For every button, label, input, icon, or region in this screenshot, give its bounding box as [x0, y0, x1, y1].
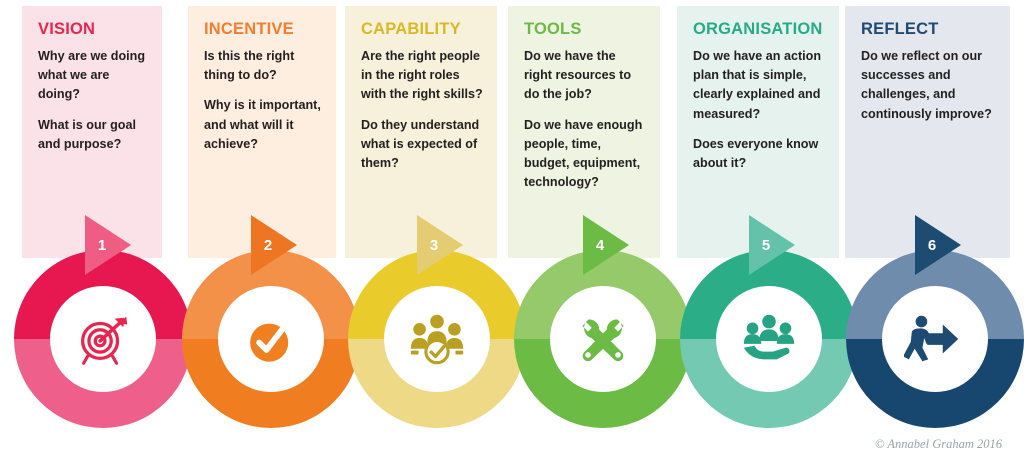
people-check-icon — [400, 302, 474, 376]
infographic-canvas: VISIONWhy are we doing what we are doing… — [0, 0, 1024, 466]
step-marker-5: 5 — [749, 215, 797, 275]
check-circle-icon — [234, 302, 308, 376]
panel-question: Are the right people in the right roles … — [361, 47, 483, 104]
step-ring-1 — [14, 250, 192, 428]
copyright-credit: © Annabel Graham 2016 — [875, 437, 1002, 452]
panel-title: ORGANISATION — [693, 20, 825, 38]
target-arrow-icon — [66, 302, 140, 376]
panel-question: Do we have enough people, time, budget, … — [524, 116, 646, 193]
step-marker-1: 1 — [85, 215, 133, 275]
panel-title: VISION — [38, 20, 148, 38]
step-ring-5 — [680, 250, 858, 428]
step-number: 4 — [583, 215, 617, 275]
panel-title: TOOLS — [524, 20, 646, 38]
panel-title: CAPABILITY — [361, 20, 483, 38]
step-number: 1 — [85, 215, 119, 275]
panel-question: Do we have an action plan that is simple… — [693, 47, 825, 124]
panel-question: Does everyone know about it? — [693, 135, 825, 173]
panel-title: REFLECT — [861, 20, 996, 38]
step-marker-6: 6 — [915, 215, 963, 275]
panel-question: Do we reflect on our successes and chall… — [861, 47, 996, 124]
step-ring-2 — [182, 250, 360, 428]
people-in-hand-icon — [732, 302, 806, 376]
step-marker-2: 2 — [251, 215, 299, 275]
person-pushing-arrow-icon — [898, 302, 972, 376]
step-ring-4 — [514, 250, 692, 428]
panel-question: Why are we doing what we are doing? — [38, 47, 148, 104]
panel-question: Do we have the right resources to do the… — [524, 47, 646, 104]
step-number: 6 — [915, 215, 949, 275]
step-number: 3 — [417, 215, 451, 275]
panel-question: Is this the right thing to do? — [204, 47, 322, 85]
step-number: 5 — [749, 215, 783, 275]
tools-wrench-icon — [566, 302, 640, 376]
step-ring-6 — [846, 250, 1024, 428]
panel-question: Why is it important, and what will it ac… — [204, 96, 322, 153]
step-marker-3: 3 — [417, 215, 465, 275]
step-number: 2 — [251, 215, 285, 275]
step-ring-3 — [348, 250, 526, 428]
panel-title: INCENTIVE — [204, 20, 322, 38]
step-marker-4: 4 — [583, 215, 631, 275]
panel-question: Do they understand what is expected of t… — [361, 116, 483, 173]
panel-question: What is our goal and purpose? — [38, 116, 148, 154]
